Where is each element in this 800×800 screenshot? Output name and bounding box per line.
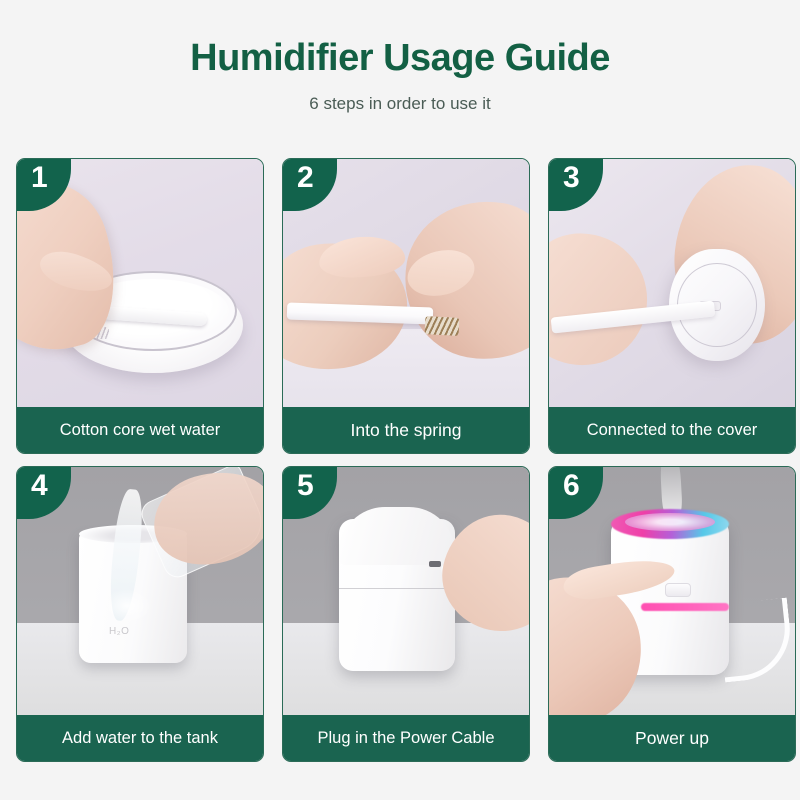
mist-outlet bbox=[625, 513, 715, 531]
step-photo-2: 2 bbox=[283, 159, 529, 407]
step-card-5[interactable]: 5 Plug in the Power Cable bbox=[282, 466, 530, 762]
power-button bbox=[665, 583, 691, 597]
step-card-3[interactable]: 3 Connected to the cover bbox=[548, 158, 796, 454]
step-caption-3: Connected to the cover bbox=[549, 407, 795, 453]
page-subtitle: 6 steps in order to use it bbox=[0, 94, 800, 114]
page-title: Humidifier Usage Guide bbox=[0, 38, 800, 80]
step-caption-5: Plug in the Power Cable bbox=[283, 715, 529, 761]
step-caption-1: Cotton core wet water bbox=[17, 407, 263, 453]
step-card-2[interactable]: 2 Into the spring bbox=[282, 158, 530, 454]
infographic-page: Humidifier Usage Guide 6 steps in order … bbox=[0, 0, 800, 800]
water-splash bbox=[103, 589, 151, 623]
usb-port bbox=[429, 561, 441, 567]
humidifier-seam bbox=[339, 588, 455, 590]
light-band bbox=[641, 603, 729, 611]
steps-grid: 1 Cotton core wet water 2 Into the sprin… bbox=[16, 158, 796, 762]
step-photo-3: 3 bbox=[549, 159, 795, 407]
tank-label: H₂O bbox=[109, 626, 129, 637]
step-photo-1: 1 bbox=[17, 159, 263, 407]
step-photo-4: H₂O 4 bbox=[17, 467, 263, 715]
spring-coil bbox=[425, 316, 460, 336]
header: Humidifier Usage Guide 6 steps in order … bbox=[0, 0, 800, 114]
step-caption-2: Into the spring bbox=[283, 407, 529, 453]
step-caption-6: Power up bbox=[549, 715, 795, 761]
step-card-4[interactable]: H₂O 4 Add water to the tank bbox=[16, 466, 264, 762]
step-caption-4: Add water to the tank bbox=[17, 715, 263, 761]
step-photo-6: 6 bbox=[549, 467, 795, 715]
step-card-1[interactable]: 1 Cotton core wet water bbox=[16, 158, 264, 454]
step-card-6[interactable]: 6 Power up bbox=[548, 466, 796, 762]
step-photo-5: 5 bbox=[283, 467, 529, 715]
